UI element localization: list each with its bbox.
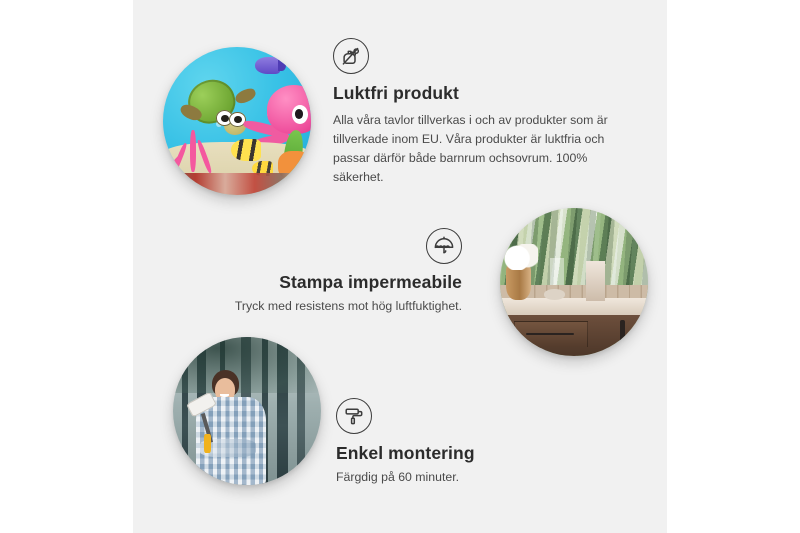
feature-title: Enkel montering: [336, 443, 596, 464]
image-woman-with-paint-roller: [173, 337, 321, 485]
yellow-fish-icon: [231, 139, 261, 161]
forest-artwork: [173, 337, 321, 485]
soap-dish: [544, 289, 565, 299]
umbrella-icon: [426, 228, 462, 264]
feature-title: Luktfri produkt: [333, 83, 633, 104]
feature-description: Tryck med resistens mot hög luftfuktighe…: [200, 297, 462, 316]
feature-description: Alla våra tavlor tillverkas i och av pro…: [333, 111, 633, 187]
screenshot-canvas: Luktfri produkt Alla våra tavlor tillver…: [0, 0, 800, 533]
room-strip: [163, 173, 311, 195]
feature-description: Färgdig på 60 minuter.: [336, 468, 596, 487]
woman-figure: [191, 370, 271, 485]
image-cartoon-underwater-scene: [163, 47, 311, 195]
cabinet-handle: [620, 320, 626, 350]
white-flowers: [500, 244, 538, 271]
feature-easy-mounting: Enkel montering Färgdig på 60 minuter.: [336, 398, 596, 487]
no-fragrance-icon: [333, 38, 369, 74]
feature-waterproof: Stampa impermeabile Tryck med resistens …: [200, 228, 462, 316]
purple-fish-icon: [255, 57, 280, 73]
feature-title: Stampa impermeabile: [200, 272, 462, 293]
mirror: [550, 258, 563, 288]
roller-grip: [204, 434, 211, 452]
bathroom-artwork: [500, 208, 648, 356]
wooden-vanity: [506, 315, 648, 356]
paint-roller-icon: [336, 398, 372, 434]
underwater-artwork: [163, 47, 311, 195]
countertop: [500, 298, 648, 314]
soap-dispenser: [586, 261, 605, 301]
image-bathroom-botanical-wallpaper: [500, 208, 648, 356]
drawer-handle: [526, 333, 574, 335]
octopus-eye: [292, 105, 308, 124]
feature-odour-free: Luktfri produkt Alla våra tavlor tillver…: [333, 38, 633, 187]
